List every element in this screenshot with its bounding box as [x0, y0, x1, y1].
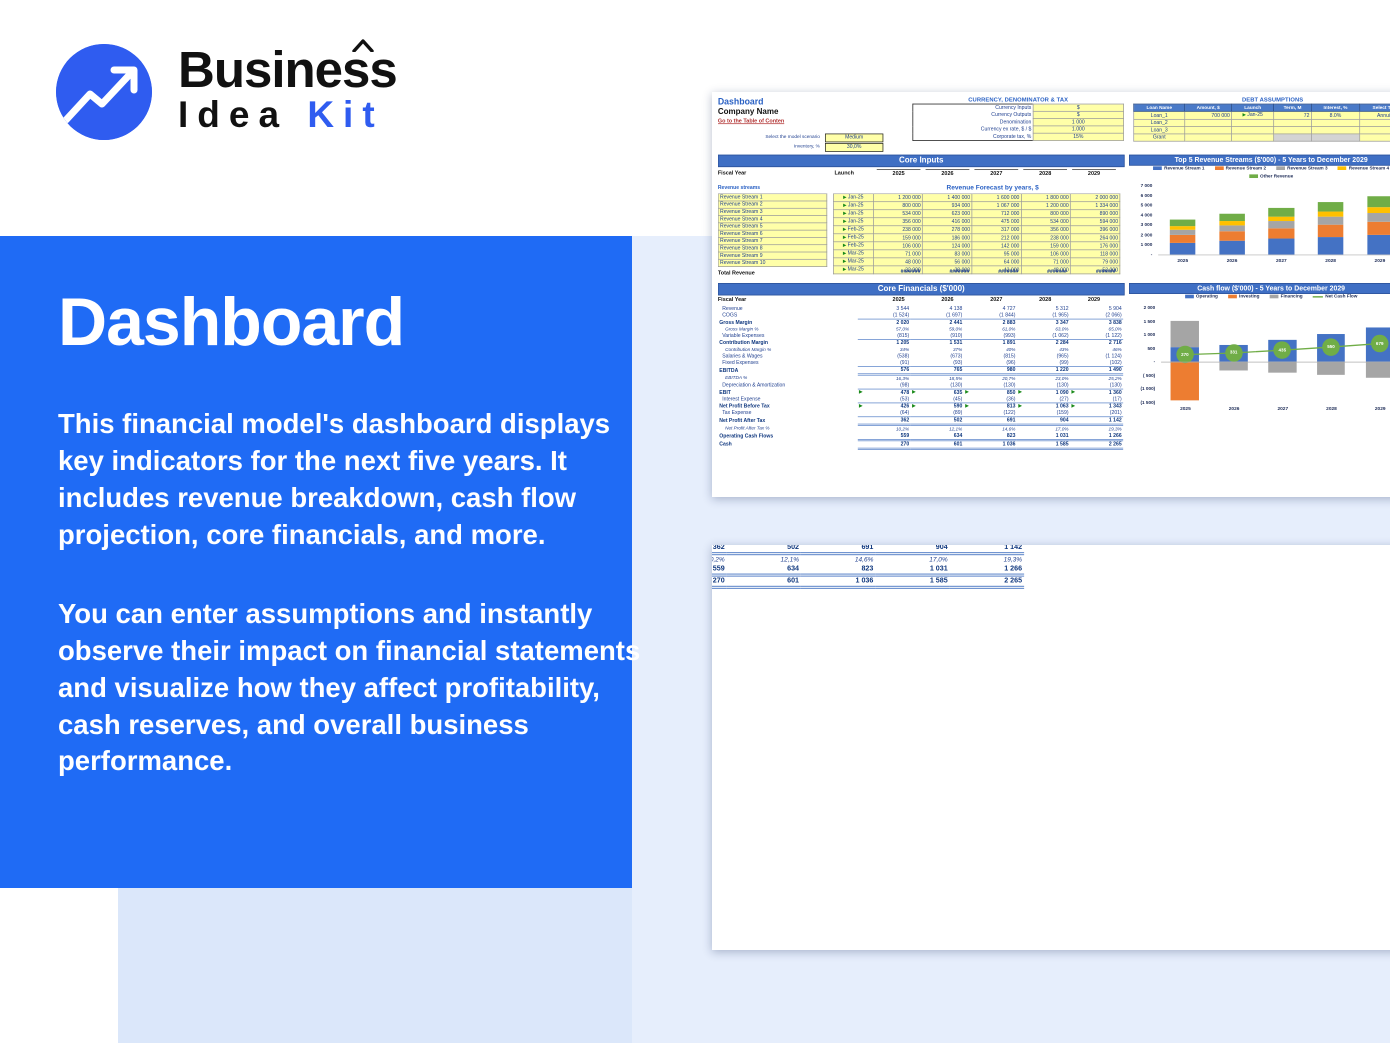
hero-paragraph-2: You can enter assumptions and instantly … — [58, 596, 648, 780]
fin-year-header: 2029 — [1072, 296, 1116, 303]
x-axis — [1158, 255, 1390, 256]
launch-label: Launch — [834, 169, 853, 176]
revenue-stream-name[interactable]: Revenue Stream 9 — [718, 252, 827, 259]
chart-title: Top 5 Revenue Streams ($'000) - 5 Years … — [1129, 155, 1390, 166]
hero-panel: Dashboard This financial model's dashboa… — [0, 236, 632, 888]
debt-panel-header: DEBT ASSUMPTIONS — [1133, 96, 1390, 103]
revenue-value-cell[interactable]: 238 000 — [873, 226, 922, 234]
financial-row-value: 980 — [964, 366, 1017, 374]
y-tick: (1 500) — [1129, 400, 1155, 405]
bar-segment — [1318, 225, 1344, 237]
bar-segment — [1170, 243, 1196, 255]
revenue-launch-cell[interactable]: ▶ Mar-25 — [833, 266, 873, 274]
financial-row-value: (1 062) — [1017, 333, 1070, 340]
debt-col-header: Select Type — [1360, 104, 1390, 111]
bar-segment — [1219, 221, 1245, 225]
fin-year-header: 2026 — [926, 296, 970, 303]
revenue-launch-cell[interactable]: ▶ Jan-25 — [833, 202, 873, 210]
revenue-stream-name[interactable]: Revenue Stream 7 — [718, 237, 827, 244]
revenue-value-cell[interactable]: 159 000 — [873, 234, 922, 242]
y-tick: 5 000 — [1129, 203, 1152, 208]
revenue-value-cell[interactable]: 278 000 — [923, 226, 972, 234]
financial-row-value: (2 066) — [1070, 312, 1123, 319]
financial-row-value: 17,0% — [1017, 425, 1070, 433]
brand-logo: Business Idea Kit — [56, 38, 456, 148]
financial-row-value: 14,6% — [801, 554, 875, 565]
financial-row-value: 634 — [727, 564, 801, 575]
revenue-value-cell[interactable]: 48 000 — [873, 258, 922, 266]
financial-row-value: 904 — [875, 545, 949, 554]
revenue-value-cell[interactable]: 79 000 — [1071, 258, 1120, 266]
financial-row-value: 1 031 — [875, 564, 949, 575]
financial-row-value: 2 265 — [1070, 440, 1123, 449]
brand-line-2: Idea Kit — [178, 96, 397, 135]
revenue-value-cell[interactable]: 106 000 — [1021, 250, 1070, 258]
financial-row-value: 1 266 — [950, 564, 1024, 575]
revenue-value-cell[interactable]: 356 000 — [1021, 226, 1070, 234]
legend-swatch — [1249, 174, 1258, 178]
financial-row-value: 12,1% — [911, 425, 964, 433]
financial-row-value: (159) — [1017, 410, 1070, 417]
financial-row-value: 20,7% — [964, 374, 1017, 382]
revenue-launch-cell[interactable]: ▶ Jan-25 — [833, 218, 873, 226]
bar-segment — [1269, 208, 1295, 217]
y-tick: 2 000 — [1129, 306, 1155, 311]
bar-segment — [1367, 235, 1390, 255]
bar-segment — [1318, 212, 1344, 217]
financial-row-value: ▶1 090 — [1017, 389, 1070, 396]
financial-row-value: 1 531 — [911, 339, 964, 346]
debt-cell[interactable] — [1360, 119, 1390, 126]
financial-row-value: ▶635 — [911, 389, 964, 396]
financial-row-value: 1 036 — [801, 575, 875, 587]
financial-row-value: 1 220 — [1017, 366, 1070, 374]
financial-row-value: 576 — [857, 366, 910, 374]
fin-year-header: 2027 — [974, 296, 1018, 303]
financial-row-value: 270 — [857, 440, 910, 449]
bar-segment — [1318, 202, 1344, 212]
legend-label: Other Revenue — [1260, 174, 1293, 179]
financial-row-value: 362 — [712, 545, 727, 554]
y-tick: 1 000 — [1129, 242, 1152, 247]
revenue-stream-name[interactable]: Revenue Stream 8 — [718, 245, 827, 252]
legend-item: Investing — [1228, 294, 1259, 299]
x-tick: 2029 — [1356, 406, 1390, 411]
bar-segment — [1318, 217, 1344, 225]
legend-label: Revenue Stream 2 — [1226, 166, 1266, 171]
core-financials-band: Core Financials ($'000) — [718, 283, 1125, 295]
financial-row-value: 823 — [964, 432, 1017, 440]
revenue-value-cell[interactable]: 56 000 — [923, 258, 972, 266]
legend-item: Revenue Stream 2 — [1215, 166, 1266, 171]
financial-row-value: (1 697) — [911, 312, 964, 319]
debt-cell[interactable] — [1274, 134, 1312, 141]
currency-row-label: Currency Inputs — [913, 104, 1033, 111]
year-header: 2029 — [1072, 169, 1116, 176]
legend-swatch — [1215, 166, 1224, 170]
financial-row-value: 2 441 — [911, 319, 964, 326]
revenue-value-cell[interactable]: 124 000 — [923, 242, 972, 250]
debt-col-header: Loan Name — [1134, 104, 1185, 111]
bar-segment — [1269, 221, 1295, 228]
revenue-value-cell[interactable]: 1 200 000 — [873, 194, 922, 202]
legend-swatch — [1153, 166, 1162, 170]
revenue-value-cell[interactable]: 396 000 — [1071, 226, 1120, 234]
debt-cell[interactable] — [1274, 127, 1312, 134]
debt-cell[interactable] — [1311, 134, 1359, 141]
debt-cell[interactable] — [1311, 127, 1359, 134]
revenue-launch-cell[interactable]: ▶ Jan-25 — [833, 210, 873, 218]
x-tick: 2025 — [1158, 258, 1207, 263]
net-cash-flow-bubble: 550 — [1322, 338, 1339, 355]
financial-row-value: (102) — [1070, 360, 1123, 367]
revenue-stream-name[interactable]: Revenue Stream 5 — [718, 223, 827, 230]
revenue-launch-cell[interactable]: ▶ Jan-25 — [833, 194, 873, 202]
revenue-stream-names-table: Revenue Stream 1Revenue Stream 2Revenue … — [718, 193, 827, 267]
revenue-value-cell[interactable]: 142 000 — [972, 242, 1021, 250]
financial-row-value: 601 — [727, 575, 801, 587]
net-cash-flow-bubble: 270 — [1176, 346, 1193, 363]
revenue-value-cell[interactable]: 118 000 — [1071, 250, 1120, 258]
debt-cell[interactable]: Annuity — [1360, 111, 1390, 119]
financial-row-value: 1 031 — [1017, 432, 1070, 440]
chart-top5-revenue-streams[interactable]: Top 5 Revenue Streams ($'000) - 5 Years … — [1129, 155, 1390, 275]
currency-row-label: Corporate tax, % — [913, 133, 1033, 140]
legend-item: Revenue Stream 1 — [1153, 166, 1204, 171]
financial-row-value: ▶850 — [964, 389, 1017, 396]
legend-label: Operating — [1196, 294, 1218, 299]
revenue-launch-cell[interactable]: ▶ Feb-25 — [833, 234, 873, 242]
chart-legend: OperatingInvestingFinancingNet Cash Flow — [1129, 294, 1390, 299]
y-tick: 3 000 — [1129, 223, 1152, 228]
legend-item: Revenue Stream 4 — [1338, 166, 1389, 171]
financial-row-value: 23,0% — [1017, 374, 1070, 382]
y-tick: 7 000 — [1129, 183, 1152, 188]
revenue-launch-cell[interactable]: ▶ Mar-25 — [833, 250, 873, 258]
financial-row-value: (27) — [1017, 396, 1070, 403]
legend-label: Revenue Stream 1 — [1164, 166, 1204, 171]
legend-swatch — [1338, 166, 1347, 170]
financial-row-value: (91) — [857, 360, 910, 367]
financial-row-value: (201) — [1070, 410, 1123, 417]
legend-swatch — [1276, 166, 1285, 170]
x-tick: 2027 — [1258, 406, 1307, 411]
revenue-forecast-table: ▶ Jan-251 200 0001 400 0001 600 0001 800… — [833, 193, 1120, 274]
revenue-value-cell[interactable]: 238 000 — [1021, 234, 1070, 242]
debt-cell[interactable] — [1232, 119, 1274, 126]
page-title: Dashboard — [58, 288, 404, 356]
net-cash-flow-bubble: 331 — [1225, 344, 1242, 361]
debt-cell[interactable] — [1274, 119, 1312, 126]
financial-row-value: ▶1 063 — [1017, 403, 1070, 410]
financial-row-value: (993) — [964, 333, 1017, 340]
financial-row-value: 19,3% — [1070, 425, 1123, 433]
financial-row-label: Tax Expense — [718, 410, 858, 417]
bar-segment — [1367, 213, 1390, 222]
revenue-value-cell[interactable]: 534 000 — [873, 210, 922, 218]
debt-cell[interactable] — [1185, 119, 1232, 126]
financial-row-value: 691 — [801, 545, 875, 554]
revenue-value-cell[interactable]: 1 200 000 — [1021, 202, 1070, 210]
revenue-value-cell[interactable]: 71 000 — [873, 250, 922, 258]
revenue-value-cell[interactable]: 264 000 — [1071, 234, 1120, 242]
y-tick: ( 500) — [1129, 373, 1155, 378]
financial-row-label: Fixed Expenses — [718, 360, 858, 367]
financial-row-label: EBITDA — [718, 366, 858, 374]
inventory-input[interactable]: 30,0% — [825, 143, 883, 152]
revenue-value-cell[interactable]: 1 800 000 — [1021, 194, 1070, 202]
currency-row-value[interactable]: 1.000 — [1033, 126, 1123, 133]
financial-row-value: 691 — [964, 417, 1017, 425]
bar-segment — [1219, 225, 1245, 231]
growth-arrow-icon — [56, 44, 152, 140]
revenue-value-cell[interactable]: 317 000 — [972, 226, 1021, 234]
legend-item: Revenue Stream 3 — [1276, 166, 1327, 171]
revenue-value-cell[interactable]: 64 000 — [972, 258, 1021, 266]
currency-row-value[interactable]: $ — [1033, 111, 1123, 118]
revenue-forecast-title: Revenue Forecast by years, $ — [865, 184, 1120, 191]
year-header: 2027 — [974, 169, 1018, 176]
financial-row-value: (815) — [857, 333, 910, 340]
legend-swatch — [1270, 295, 1279, 299]
financial-row-value: 1 142 — [1070, 417, 1123, 425]
financial-row-value: 10,2% — [712, 554, 727, 565]
revenue-launch-cell[interactable]: ▶ Feb-25 — [833, 242, 873, 250]
revenue-streams-label: Revenue streams — [718, 185, 760, 190]
revenue-value-cell[interactable]: 176 000 — [1071, 242, 1120, 250]
revenue-stream-name[interactable]: Revenue Stream 6 — [718, 230, 827, 237]
financial-row-value: 823 — [801, 564, 875, 575]
currency-row-value[interactable]: $ — [1033, 104, 1123, 111]
revenue-value-cell[interactable]: 934 000 — [923, 202, 972, 210]
hero-paragraph-1: This financial model's dashboard display… — [58, 406, 648, 553]
y-tick: 2 000 — [1129, 233, 1152, 238]
company-name: Company Name — [718, 107, 779, 116]
financial-row-value: 362 — [857, 417, 910, 425]
financial-row-value: 559 — [857, 432, 910, 440]
currency-row-label: Denomination — [913, 119, 1033, 126]
debt-cell[interactable]: ▶ Jan-25 — [1232, 111, 1274, 119]
total-revenue-cell: ####### — [926, 269, 970, 274]
x-tick: 2026 — [1210, 406, 1259, 411]
year-header: 2028 — [1023, 169, 1067, 176]
financial-row-value: (122) — [964, 410, 1017, 417]
circumflex-accent-icon — [352, 39, 374, 52]
financial-row-label: Net Profit Before Tax — [718, 403, 858, 410]
financial-row-value: (17) — [1070, 396, 1123, 403]
revenue-launch-cell[interactable]: ▶ Feb-25 — [833, 226, 873, 234]
financial-row-value: 17,0% — [875, 554, 949, 565]
financial-row-value: 2 265 — [950, 575, 1024, 587]
financial-row-label: Operating Cash Flows — [718, 432, 858, 440]
bar-segment — [1170, 235, 1196, 243]
revenue-value-cell[interactable]: 712 000 — [972, 210, 1021, 218]
revenue-stream-name[interactable]: Revenue Stream 1 — [718, 194, 827, 201]
financial-row-value: 1 036 — [964, 440, 1017, 449]
financial-row-value: (910) — [911, 333, 964, 340]
revenue-value-cell[interactable]: 475 000 — [972, 218, 1021, 226]
bar-segment — [1367, 196, 1390, 207]
y-tick: 1 500 — [1129, 319, 1155, 324]
financial-row-label: EBIT — [718, 389, 858, 396]
revenue-value-cell[interactable]: 212 000 — [972, 234, 1021, 242]
debt-cell[interactable]: Loan_3 — [1134, 127, 1185, 134]
zero-axis — [1161, 362, 1390, 363]
chart-legend: Revenue Stream 1Revenue Stream 2Revenue … — [1129, 166, 1390, 179]
financial-row-value: 904 — [1017, 417, 1070, 425]
legend-label: Revenue Stream 4 — [1349, 166, 1389, 171]
financial-row-value: ▶1 360 — [1070, 389, 1123, 396]
financial-row-value: 559 — [712, 564, 727, 575]
revenue-value-cell[interactable]: 416 000 — [923, 218, 972, 226]
financial-row-value: 2 716 — [1070, 339, 1123, 346]
debt-cell[interactable]: 8.0% — [1311, 111, 1359, 119]
dashboard-sheet-detail[interactable]: DashboardCompany NameGo to the Table of … — [712, 545, 1390, 950]
financial-row-label: EBITDA % — [718, 374, 858, 382]
revenue-value-cell[interactable]: 71 000 — [1021, 258, 1070, 266]
debt-cell[interactable] — [1232, 127, 1274, 134]
financial-row-value: (96) — [964, 360, 1017, 367]
bar-segment — [1219, 231, 1245, 240]
brand-line-2-dark: Idea — [178, 94, 288, 135]
financial-row-value: 16,3% — [857, 374, 910, 382]
fin-year-header: 2028 — [1023, 296, 1067, 303]
legend-item: Other Revenue — [1249, 174, 1293, 179]
chart-cash-flow[interactable]: Cash flow ($'000) - 5 Years to December … — [1129, 283, 1390, 429]
revenue-value-cell[interactable]: 83 000 — [923, 250, 972, 258]
debt-cell[interactable] — [1185, 134, 1232, 141]
revenue-stream-name[interactable]: Revenue Stream 4 — [718, 216, 827, 223]
financial-row-value: ▶478 — [857, 389, 910, 396]
financial-row-label: Net Profit After Tax % — [718, 425, 858, 433]
revenue-value-cell[interactable]: 594 000 — [1071, 218, 1120, 226]
debt-col-header: Term, M — [1274, 104, 1312, 111]
currency-row-value[interactable]: 1 000 — [1033, 119, 1123, 126]
debt-table: Loan NameAmount, $LaunchTerm, MInterest,… — [1133, 104, 1390, 142]
revenue-value-cell[interactable]: 1 600 000 — [972, 194, 1021, 202]
revenue-value-cell[interactable]: 800 000 — [873, 202, 922, 210]
financial-row-value: (98) — [857, 382, 910, 389]
financial-row-value: (93) — [911, 360, 964, 367]
chart-cash-flow[interactable]: Cash flow ($'000) - 5 Years to December … — [1032, 545, 1390, 559]
core-financials-table: Revenue3 5444 1384 7275 3125 904COGS(1 5… — [718, 306, 1123, 450]
financial-row-value: 18,5% — [911, 374, 964, 382]
debt-cell[interactable] — [1360, 127, 1390, 134]
financial-row-value: 1 585 — [1017, 440, 1070, 449]
revenue-value-cell[interactable]: 186 000 — [923, 234, 972, 242]
revenue-value-cell[interactable]: 2 000 000 — [1071, 194, 1120, 202]
revenue-stream-name[interactable]: Revenue Stream 2 — [718, 201, 827, 208]
financial-row-value: 634 — [911, 432, 964, 440]
financial-row-value: 19,3% — [950, 554, 1024, 565]
debt-cell[interactable] — [1232, 134, 1274, 141]
inventory-label: Inventory, % — [718, 144, 820, 149]
revenue-value-cell[interactable]: 800 000 — [1021, 210, 1070, 218]
legend-label: Financing — [1281, 294, 1303, 299]
financial-row-value: (130) — [1070, 382, 1123, 389]
bar-segment — [1318, 237, 1344, 255]
legend-label: Net Cash Flow — [1325, 294, 1357, 299]
dashboard-sheet-full[interactable]: DashboardCompany NameGo to the Table of … — [712, 92, 1390, 497]
revenue-value-cell[interactable]: 95 000 — [972, 250, 1021, 258]
debt-cell[interactable]: Grant — [1134, 134, 1185, 141]
total-revenue-cell: ####### — [1072, 269, 1116, 274]
cashflow-bar-segment — [1171, 321, 1199, 347]
debt-cell[interactable]: Loan_1 — [1134, 111, 1185, 119]
financial-row-label: Variable Expenses — [718, 333, 858, 340]
revenue-value-cell[interactable]: 1 334 000 — [1071, 202, 1120, 210]
debt-cell[interactable]: 72 — [1274, 111, 1312, 119]
fin-year-header: 2025 — [877, 296, 921, 303]
financial-row-value: (53) — [857, 396, 910, 403]
legend-swatch — [1185, 295, 1194, 299]
financial-row-value: 2 284 — [1017, 339, 1070, 346]
financial-row-label: Cash — [718, 440, 858, 449]
financial-row-value: 14,6% — [964, 425, 1017, 433]
bar-segment — [1170, 229, 1196, 234]
financial-row-value: (1 844) — [964, 312, 1017, 319]
financial-row-value: (36) — [964, 396, 1017, 403]
debt-cell[interactable] — [1360, 134, 1390, 141]
financial-row-value: 601 — [911, 440, 964, 449]
revenue-value-cell[interactable]: 106 000 — [873, 242, 922, 250]
revenue-stream-name[interactable]: Revenue Stream 3 — [718, 208, 827, 215]
revenue-stream-name[interactable]: Revenue Stream 10 — [718, 259, 827, 266]
financial-row-value: (64) — [857, 410, 910, 417]
financial-row-label: Interest Expense — [718, 396, 858, 403]
currency-table: Currency Inputs$Currency Outputs$Denomin… — [912, 104, 1123, 141]
debt-col-header: Launch — [1232, 104, 1274, 111]
revenue-value-cell[interactable]: 623 000 — [923, 210, 972, 218]
brand-line-2-accent: Kit — [307, 94, 383, 135]
cashflow-bar-segment — [1171, 362, 1199, 401]
debt-cell[interactable]: Loan_2 — [1134, 119, 1185, 126]
brand-line-1: Business — [178, 46, 397, 94]
financial-row-value: ▶426 — [857, 403, 910, 410]
debt-cell[interactable]: 700 000 — [1185, 111, 1232, 119]
currency-row-value[interactable]: 15% — [1033, 133, 1123, 140]
fin-fiscal-year-label: Fiscal Year — [718, 296, 746, 303]
debt-cell[interactable] — [1311, 119, 1359, 126]
bar-segment — [1367, 207, 1390, 213]
y-tick: 500 — [1129, 346, 1155, 351]
debt-cell[interactable] — [1185, 127, 1232, 134]
bar-segment — [1269, 228, 1295, 239]
scenario-select[interactable]: Medium — [825, 134, 883, 143]
revenue-value-cell[interactable]: 890 000 — [1071, 210, 1120, 218]
brand-wordmark: Business Idea Kit — [178, 46, 397, 135]
revenue-value-cell[interactable]: 1 400 000 — [923, 194, 972, 202]
chart-title: Cash flow ($'000) - 5 Years to December … — [1129, 283, 1390, 294]
y-tick: 1 000 — [1129, 333, 1155, 338]
financial-row-label: Net Profit After Tax — [718, 417, 858, 425]
bar-segment — [1269, 216, 1295, 221]
financial-row-value: 765 — [911, 366, 964, 374]
y-tick: 4 000 — [1129, 213, 1152, 218]
revenue-value-cell[interactable]: 1 067 000 — [972, 202, 1021, 210]
currency-row-label: Currency Outputs — [913, 111, 1033, 118]
financial-row-value: (1 524) — [857, 312, 910, 319]
revenue-value-cell[interactable]: 356 000 — [873, 218, 922, 226]
financial-row-value: 270 — [712, 575, 727, 587]
revenue-value-cell[interactable]: 159 000 — [1021, 242, 1070, 250]
financial-row-value: 1 266 — [1070, 432, 1123, 440]
legend-item: Financing — [1270, 294, 1303, 299]
financial-row-label: Gross Margin — [718, 319, 858, 326]
revenue-value-cell[interactable]: 534 000 — [1021, 218, 1070, 226]
table-of-contents-link[interactable]: Go to the Table of Conten — [718, 118, 784, 125]
revenue-launch-cell[interactable]: ▶ Mar-25 — [833, 258, 873, 266]
